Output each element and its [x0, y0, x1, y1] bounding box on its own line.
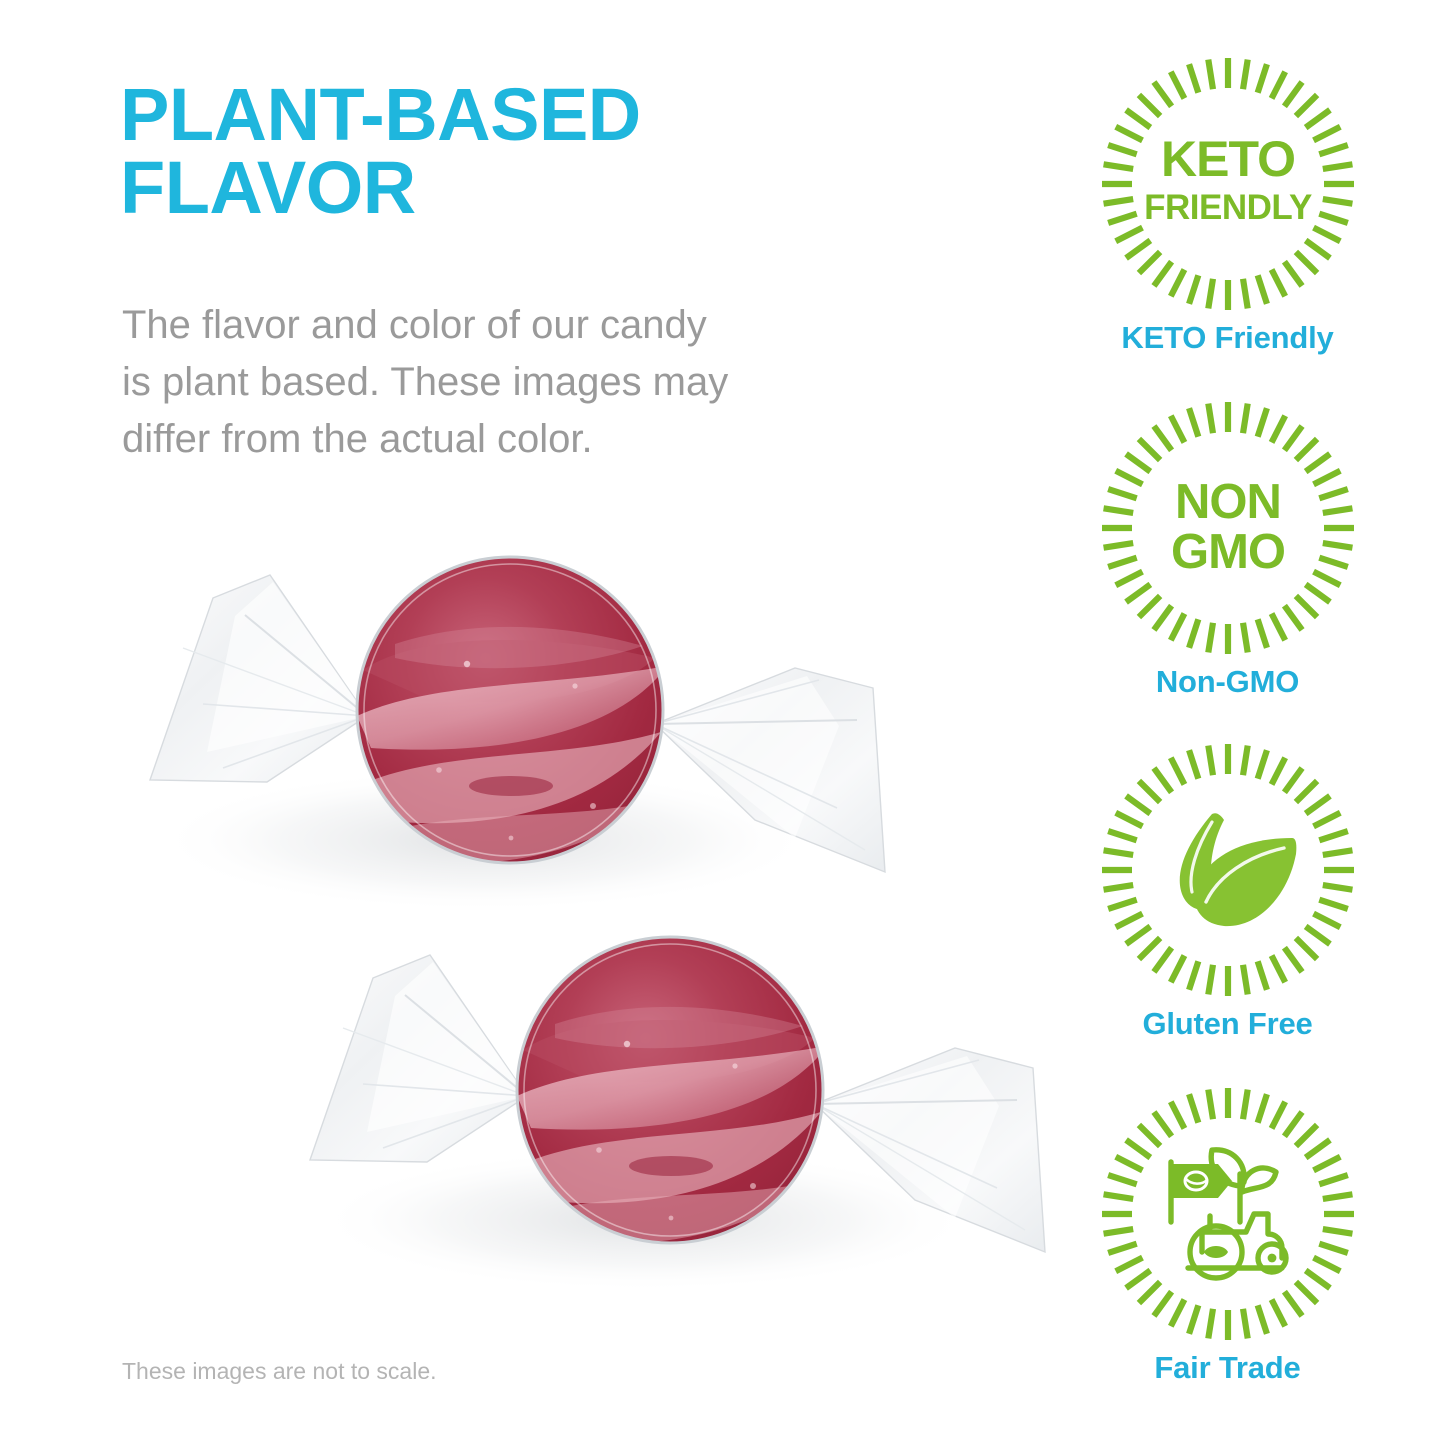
keto-mark-line-1: KETO [1161, 131, 1295, 187]
badge-keto-friendly: KETO FRIENDLY KETO Friendly [1010, 52, 1445, 353]
badge-gluten-free: Gluten Free [1010, 738, 1445, 1039]
non-gmo-badge-icon: NON GMO [1096, 396, 1360, 660]
keto-mark-line-2: FRIENDLY [1144, 188, 1312, 227]
product-feature-panel: PLANT-BASED FLAVOR The flavor and color … [0, 0, 1445, 1445]
scale-disclaimer: These images are not to scale. [122, 1358, 437, 1385]
badge-caption-keto-friendly: KETO Friendly [1121, 322, 1333, 353]
badge-caption-fair-trade: Fair Trade [1154, 1352, 1300, 1383]
wrapped-candy-image-top [95, 520, 925, 915]
certification-badge-column: KETO FRIENDLY KETO Friendly NON GMO Non-… [1010, 0, 1445, 1445]
wrapped-candy-image-bottom [255, 900, 1085, 1295]
badge-caption-non-gmo: Non-GMO [1156, 666, 1299, 697]
badge-caption-gluten-free: Gluten Free [1142, 1008, 1312, 1039]
tractor-sprout-flag-badge-icon [1096, 1082, 1360, 1346]
left-content-column: PLANT-BASED FLAVOR The flavor and color … [0, 0, 1010, 1445]
badge-fair-trade: Fair Trade [1010, 1082, 1445, 1383]
description-text: The flavor and color of our candy is pla… [122, 297, 922, 467]
non-gmo-mark-line-2: GMO [1170, 525, 1284, 579]
keto-friendly-badge-icon: KETO FRIENDLY [1096, 52, 1360, 316]
leaf-badge-icon [1096, 738, 1360, 1002]
non-gmo-mark-line-1: NON [1175, 475, 1281, 529]
page-title: PLANT-BASED FLAVOR [120, 78, 880, 225]
badge-non-gmo: NON GMO Non-GMO [1010, 396, 1445, 697]
